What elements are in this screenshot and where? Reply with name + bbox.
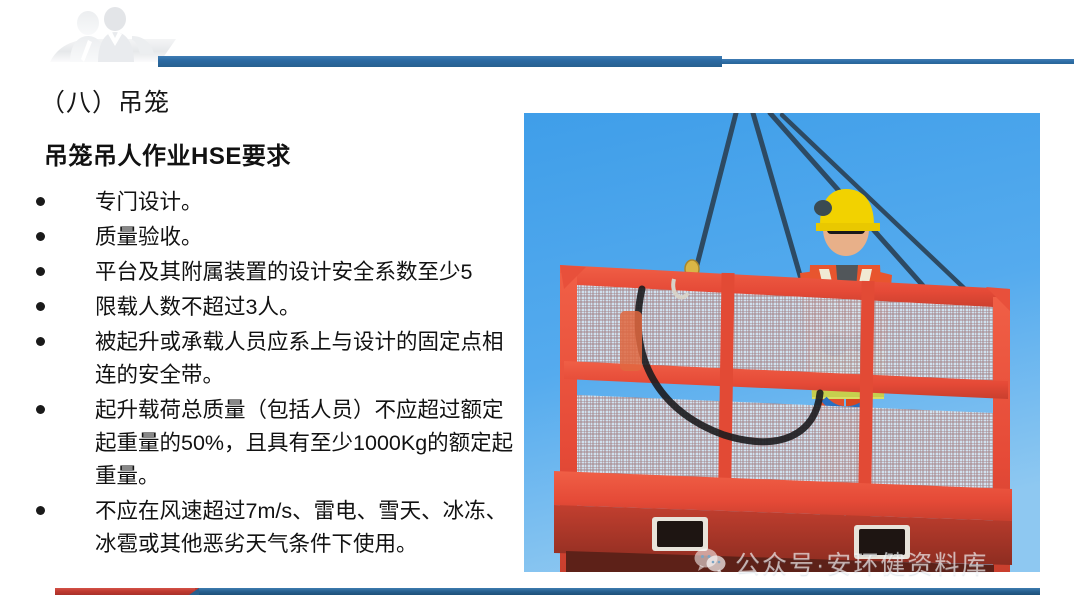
man-riding-basket-photo xyxy=(524,113,1040,572)
footer-accent-red xyxy=(55,588,195,595)
list-item: 质量验收。 xyxy=(28,221,518,254)
list-item-text: 起升载荷总质量（包括人员）不应超过额定起重量的50%，且具有至少1000Kg的额… xyxy=(95,394,518,493)
list-item-text: 不应在风速超过7m/s、雷电、雪天、冰冻、冰雹或其他恶劣天气条件下使用。 xyxy=(95,495,518,561)
header-accent-bar-thin xyxy=(722,59,1074,64)
list-item-text: 专门设计。 xyxy=(95,186,518,219)
bullet-dot-icon xyxy=(36,302,45,311)
bullet-dot-icon xyxy=(36,506,45,515)
list-item-text: 限载人数不超过3人。 xyxy=(95,291,518,324)
list-item-text: 质量验收。 xyxy=(95,221,518,254)
slide-canvas: （八）吊笼 吊笼吊人作业HSE要求 专门设计。 质量验收。 平台及其附属装置的设… xyxy=(0,0,1080,608)
footer-accent-blue xyxy=(199,588,1040,595)
bullet-dot-icon xyxy=(36,337,45,346)
header-band xyxy=(0,0,1080,72)
list-item: 起升载荷总质量（包括人员）不应超过额定起重量的50%，且具有至少1000Kg的额… xyxy=(28,394,518,493)
bullet-dot-icon xyxy=(36,267,45,276)
list-item-text: 被起升或承载人员应系上与设计的固定点相连的安全带。 xyxy=(95,326,518,392)
bullet-list: 专门设计。 质量验收。 平台及其附属装置的设计安全系数至少5 限载人数不超过3人… xyxy=(28,186,518,563)
list-item: 被起升或承载人员应系上与设计的固定点相连的安全带。 xyxy=(28,326,518,392)
bullet-dot-icon xyxy=(36,232,45,241)
bullet-dot-icon xyxy=(36,405,45,414)
section-subtitle: 吊笼吊人作业HSE要求 xyxy=(44,136,291,171)
list-item: 限载人数不超过3人。 xyxy=(28,291,518,324)
list-item-text: 平台及其附属装置的设计安全系数至少5 xyxy=(95,256,518,289)
header-accent-bar-thick xyxy=(158,56,722,67)
list-item: 平台及其附属装置的设计安全系数至少5 xyxy=(28,256,518,289)
list-item: 不应在风速超过7m/s、雷电、雪天、冰冻、冰雹或其他恶劣天气条件下使用。 xyxy=(28,495,518,561)
bullet-dot-icon xyxy=(36,197,45,206)
page-title: （八）吊笼 xyxy=(40,83,170,119)
list-item: 专门设计。 xyxy=(28,186,518,219)
